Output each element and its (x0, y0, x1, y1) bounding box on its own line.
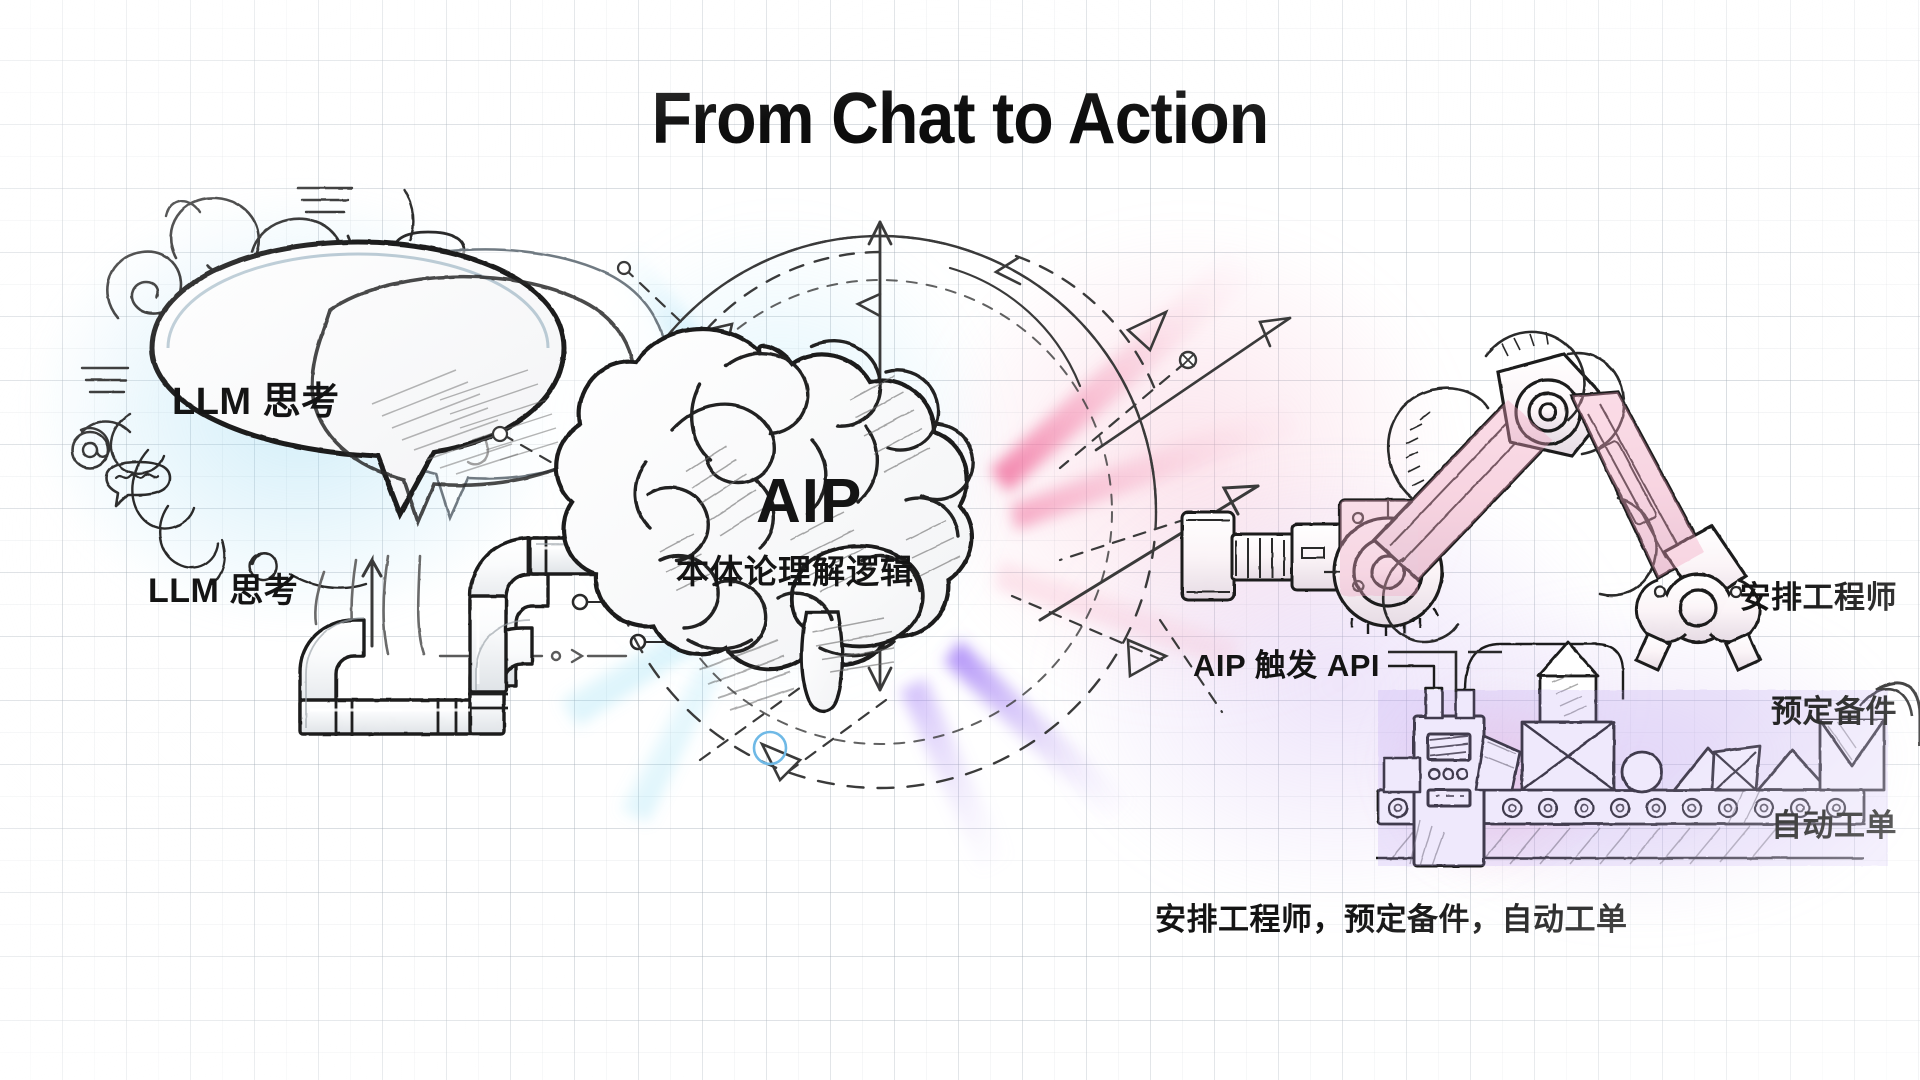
arm-action-line: 自动工单 (1697, 807, 1897, 845)
api-connector-line (1388, 652, 1502, 692)
arm-actions-label: 安排工程师 预定备件 自动工单 (1697, 503, 1897, 921)
robot-arm-icon (1182, 332, 1760, 670)
api-trigger-label: AIP 触发 API (1193, 640, 1380, 685)
bottom-caption: 安排工程师，预定备件，自动工单 (1155, 894, 1628, 939)
aip-subtitle: 本体论理解逻辑 (676, 545, 914, 593)
infographic-canvas: From Chat to Action LLM 思考 LLM 思考 AIP 本体… (0, 0, 1920, 1080)
speech-bubble-label: LLM 思考 (172, 370, 340, 425)
aip-title: AIP (756, 466, 862, 537)
arm-action-line: 预定备件 (1697, 693, 1897, 731)
arm-action-line: 安排工程师 (1697, 579, 1897, 617)
llm-stage-label: LLM 思考 (148, 563, 298, 612)
page-title: From Chat to Action (77, 78, 1843, 160)
sketch-layer (0, 0, 1920, 1080)
